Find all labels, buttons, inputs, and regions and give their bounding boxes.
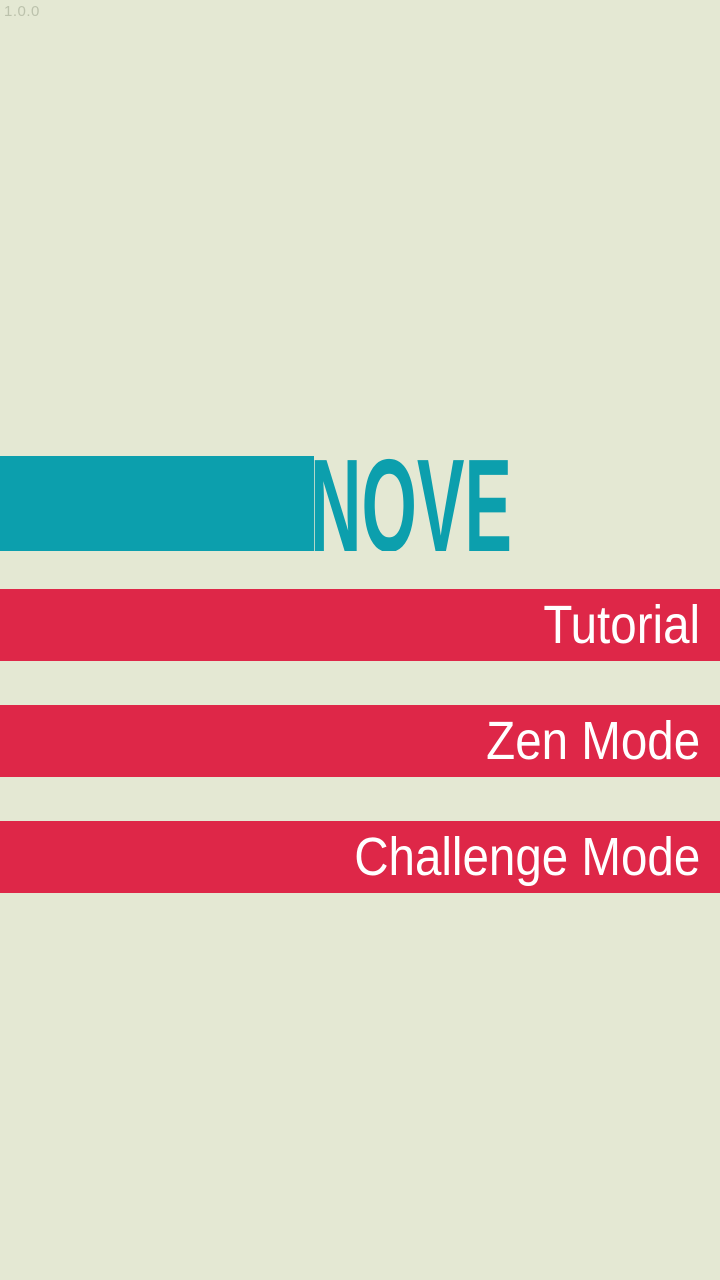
- main-menu: Tutorial Zen Mode Challenge Mode: [0, 589, 720, 893]
- menu-item-zen-mode[interactable]: Zen Mode: [0, 705, 720, 777]
- version-label: 1.0.0: [4, 2, 40, 22]
- logo-bar: [0, 456, 314, 551]
- menu-item-zen-mode-label: Zen Mode: [486, 714, 700, 768]
- logo-wordmark-svg: NOVE: [310, 450, 512, 551]
- logo-wordmark-text: NOVE: [310, 450, 512, 551]
- game-logo: NOVE: [0, 450, 720, 555]
- menu-item-tutorial-label: Tutorial: [543, 598, 700, 652]
- menu-item-tutorial[interactable]: Tutorial: [0, 589, 720, 661]
- menu-item-challenge-mode[interactable]: Challenge Mode: [0, 821, 720, 893]
- logo-wordmark: NOVE: [310, 450, 512, 551]
- menu-item-challenge-mode-label: Challenge Mode: [354, 830, 700, 884]
